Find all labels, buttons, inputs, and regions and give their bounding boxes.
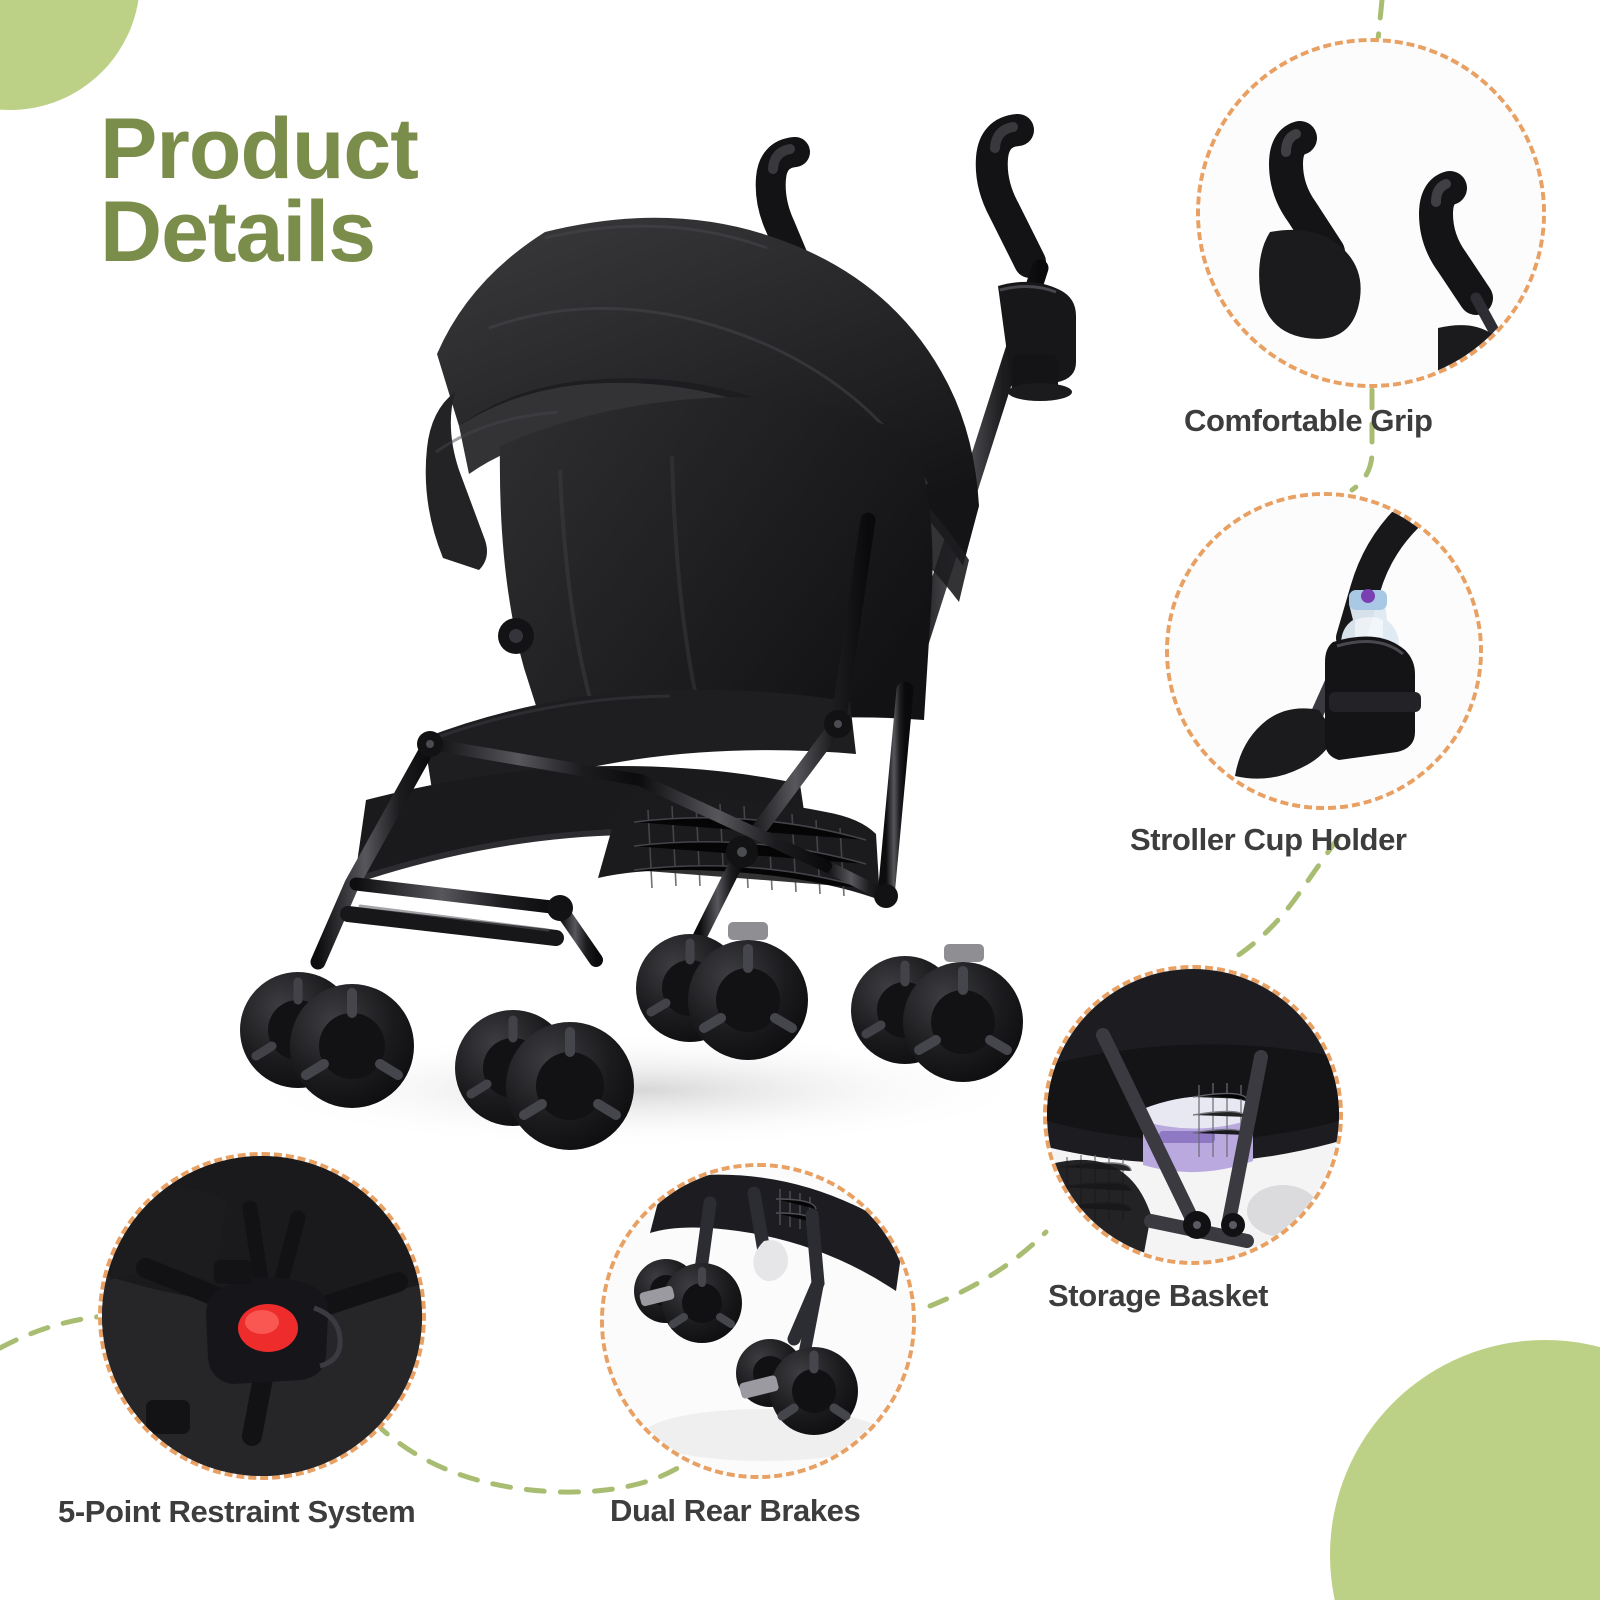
callout-image-dual-rear-brakes [600,1163,916,1479]
buckle [206,1277,340,1384]
wheel-front-right-inner [506,1022,634,1150]
infographic-canvas: Product Details [0,0,1600,1600]
brake-lever-left [728,922,768,940]
cup-holder-bracket [1325,637,1421,760]
callout-label-dual-rear-brakes: Dual Rear Brakes [610,1493,860,1529]
callout-label-storage-basket: Storage Basket [1048,1278,1268,1314]
callout-image-5-point-restraint-system [98,1152,426,1480]
wheel-front-left-inner [290,984,414,1108]
callout-image-comfortable-grip [1196,38,1546,388]
callout-image-storage-basket [1043,965,1343,1265]
callout-label-5-point-restraint-system: 5-Point Restraint System [58,1494,415,1530]
brake-lever-right [944,944,984,962]
handlebar-right [992,127,1030,262]
callout-image-stroller-cup-holder [1165,492,1483,810]
callout-label-stroller-cup-holder: Stroller Cup Holder [1130,822,1407,858]
callout-label-comfortable-grip: Comfortable Grip [1184,403,1433,439]
